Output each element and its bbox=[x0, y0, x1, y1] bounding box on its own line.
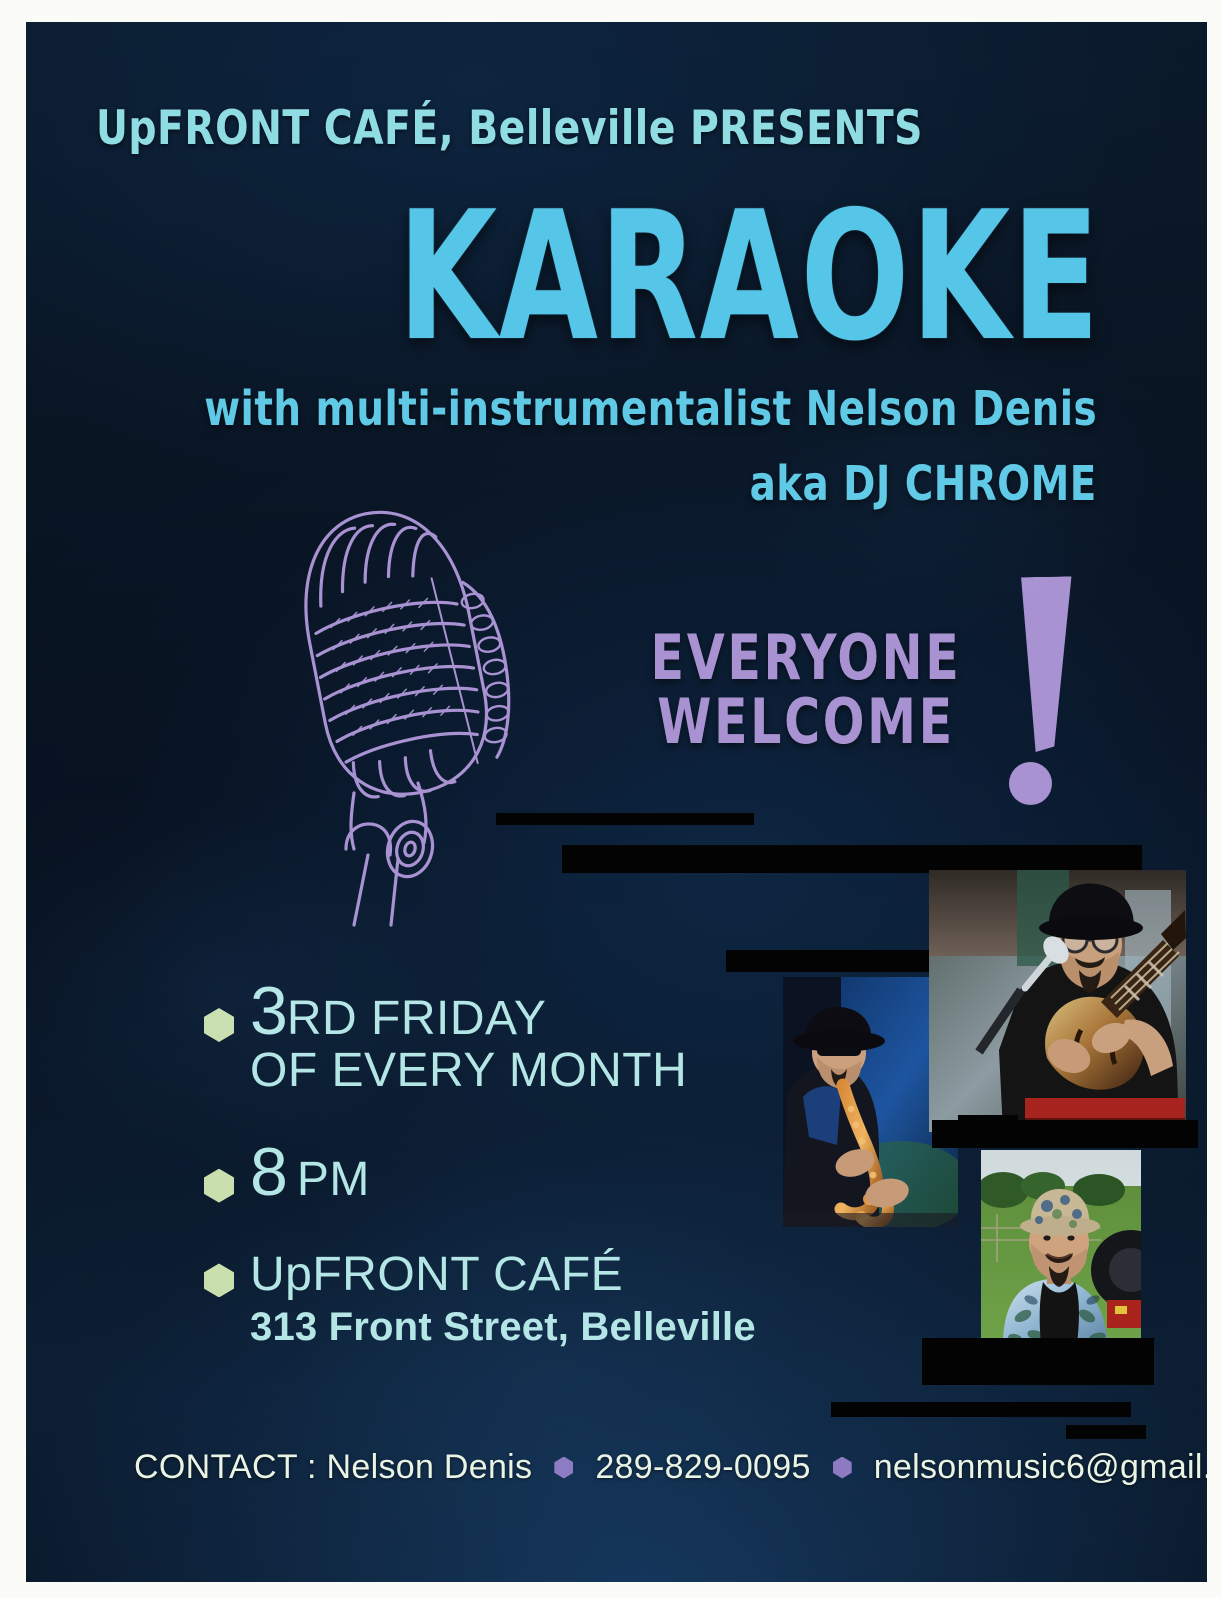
detail-venue-address: 313 Front Street, Belleville bbox=[250, 1305, 824, 1349]
event-details-list: 3RD FRIDAY OF EVERY MONTH 8PM UpFRONT CA… bbox=[204, 980, 824, 1349]
exclamation-stroke bbox=[999, 576, 1074, 752]
detail-second-line: OF EVERY MONTH bbox=[250, 1045, 824, 1097]
subtitle-alias: aka DJ CHROME bbox=[750, 460, 1097, 508]
hexagon-bullet-icon bbox=[204, 1169, 234, 1203]
welcome-line-2: WELCOME bbox=[630, 690, 982, 754]
detail-venue-name: UpFRONT CAFÉ bbox=[250, 1249, 824, 1301]
photo-guitar bbox=[929, 870, 1186, 1132]
poster-background: UpFRONT CAFÉ, Belleville PRESENTS KARAOK… bbox=[26, 22, 1207, 1582]
hexagon-separator-icon bbox=[554, 1457, 573, 1479]
decorative-bar bbox=[1066, 1425, 1146, 1439]
list-item: UpFRONT CAFÉ 313 Front Street, Bellevill… bbox=[204, 1249, 824, 1349]
microphone-icon bbox=[258, 477, 528, 927]
contact-email[interactable]: nelsonmusic6@gmail.com bbox=[874, 1448, 1207, 1487]
decorative-bar bbox=[922, 1338, 1154, 1385]
decorative-bar bbox=[831, 1402, 1131, 1417]
poster-canvas: UpFRONT CAFÉ, Belleville PRESENTS KARAOK… bbox=[0, 0, 1221, 1598]
exclamation-dot bbox=[1009, 762, 1052, 805]
photo-portrait bbox=[981, 1150, 1141, 1345]
decorative-bar bbox=[496, 813, 754, 825]
hexagon-bullet-icon bbox=[204, 1263, 234, 1297]
list-item: 3RD FRIDAY OF EVERY MONTH bbox=[204, 980, 824, 1097]
detail-lead-suffix: PM bbox=[297, 1153, 370, 1206]
exclamation-mark-icon bbox=[1001, 577, 1111, 807]
list-item: 8PM bbox=[204, 1141, 824, 1206]
contact-label: CONTACT : Nelson Denis bbox=[134, 1448, 532, 1487]
decorative-bar bbox=[562, 845, 1142, 873]
everyone-welcome-block: EVERYONE WELCOME bbox=[606, 626, 1006, 754]
detail-lead-number: 3 bbox=[250, 980, 287, 1043]
detail-lead-suffix: RD FRIDAY bbox=[287, 992, 547, 1045]
detail-lead-number: 8 bbox=[250, 1141, 287, 1204]
page-title: KARAOKE bbox=[398, 200, 1101, 353]
welcome-line-1: EVERYONE bbox=[630, 626, 982, 690]
hexagon-separator-icon bbox=[833, 1457, 852, 1479]
contact-phone[interactable]: 289-829-0095 bbox=[595, 1448, 810, 1487]
contact-footer: CONTACT : Nelson Denis 289-829-0095 nels… bbox=[134, 1448, 1207, 1487]
hexagon-bullet-icon bbox=[204, 1008, 234, 1042]
presenter-line: UpFRONT CAFÉ, Belleville PRESENTS bbox=[96, 105, 923, 152]
decorative-bar bbox=[932, 1120, 1198, 1148]
subtitle-performer: with multi-instrumentalist Nelson Denis bbox=[204, 385, 1097, 433]
